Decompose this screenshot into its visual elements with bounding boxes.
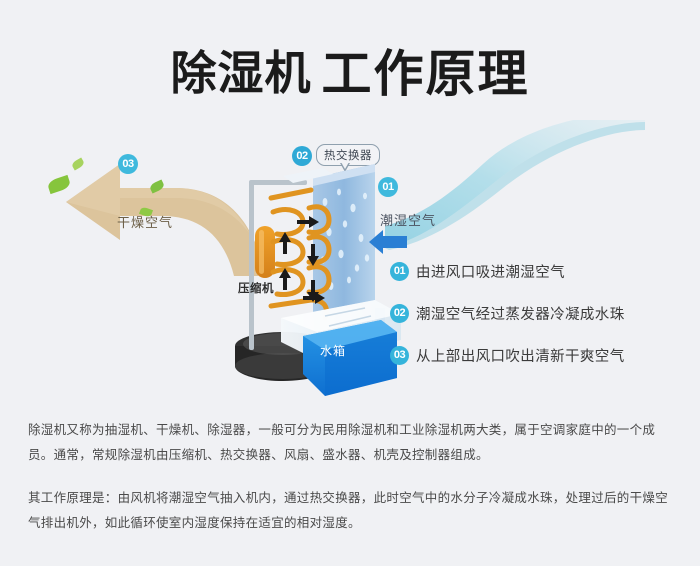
poster-canvas: 除湿机工作原理 03 干燥空气 <box>0 0 700 566</box>
diagram-badge-dry-air: 03 <box>118 154 138 174</box>
body-paragraph-1: 除湿机又称为抽湿机、干燥机、除湿器，一般可分为民用除湿机和工业除湿机两大类，属于… <box>28 418 678 468</box>
diagram-label-water-tank: 水箱 <box>320 342 346 359</box>
step-list: 01 由进风口吸进潮湿空气 02 潮湿空气经过蒸发器冷凝成水珠 03 从上部出风… <box>390 255 685 381</box>
title-part-primary: 除湿机 <box>171 47 312 99</box>
step-item-02: 02 潮湿空气经过蒸发器冷凝成水珠 <box>390 297 685 330</box>
body-paragraph-2: 其工作原理是：由风机将潮湿空气抽入机内，通过热交换器，此时空气中的水分子冷凝成水… <box>28 486 678 536</box>
step-badge-01: 01 <box>390 262 409 281</box>
step-badge-02: 02 <box>390 304 409 323</box>
step-text-02: 潮湿空气经过蒸发器冷凝成水珠 <box>416 303 625 324</box>
page-title: 除湿机工作原理 <box>0 34 700 106</box>
step-badge-03: 03 <box>390 346 409 365</box>
dehumidifier-machine-illustration <box>225 150 410 405</box>
step-text-01: 由进风口吸进潮湿空气 <box>416 261 565 282</box>
diagram-label-dry-air: 干燥空气 <box>117 212 173 231</box>
step-item-01: 01 由进风口吸进潮湿空气 <box>390 255 685 288</box>
step-item-03: 03 从上部出风口吹出清新干爽空气 <box>390 339 685 372</box>
diagram-label-compressor: 压缩机 <box>238 280 274 296</box>
title-part-secondary: 工作原理 <box>322 46 530 102</box>
body-copy: 除湿机又称为抽湿机、干燥机、除湿器，一般可分为民用除湿机和工业除湿机两大类，属于… <box>28 418 678 536</box>
step-text-03: 从上部出风口吹出清新干爽空气 <box>416 345 625 366</box>
